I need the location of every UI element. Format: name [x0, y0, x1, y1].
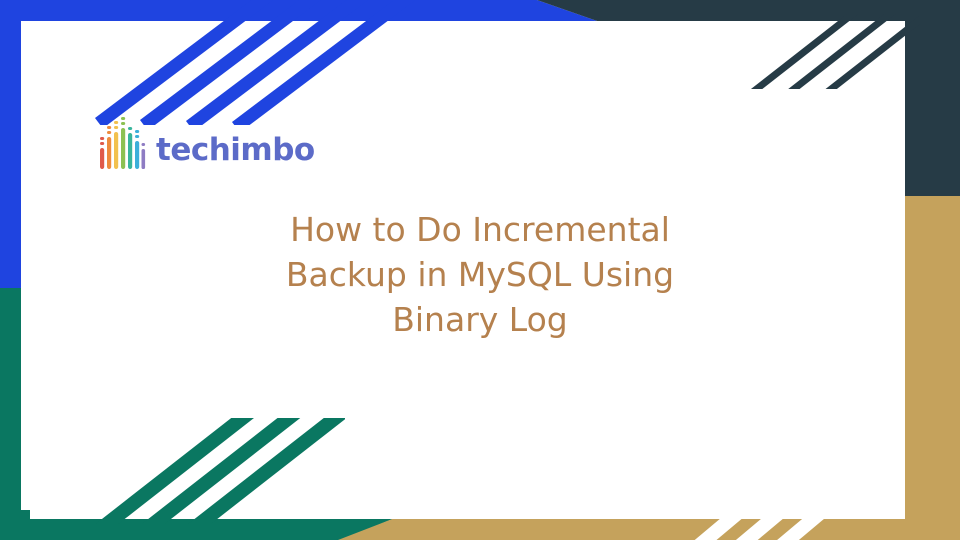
title-line: Backup in MySQL Using: [200, 253, 760, 298]
presentation-slide: techimbo How to Do Incremental Backup in…: [0, 0, 960, 540]
bar-chart-logo-icon: [98, 115, 146, 171]
title-line: Binary Log: [200, 298, 760, 343]
right-gold-bar: [905, 196, 960, 540]
brand-logo: techimbo: [98, 115, 315, 171]
title-line: How to Do Incremental: [200, 208, 760, 253]
bottom-gold-band: [330, 516, 960, 540]
right-navy-bar: [905, 0, 960, 200]
brand-name: techimbo: [156, 135, 315, 166]
page-title: How to Do Incremental Backup in MySQL Us…: [200, 208, 760, 343]
bottom-left-teal-accent: [16, 510, 30, 522]
top-blue-band: [0, 0, 600, 22]
